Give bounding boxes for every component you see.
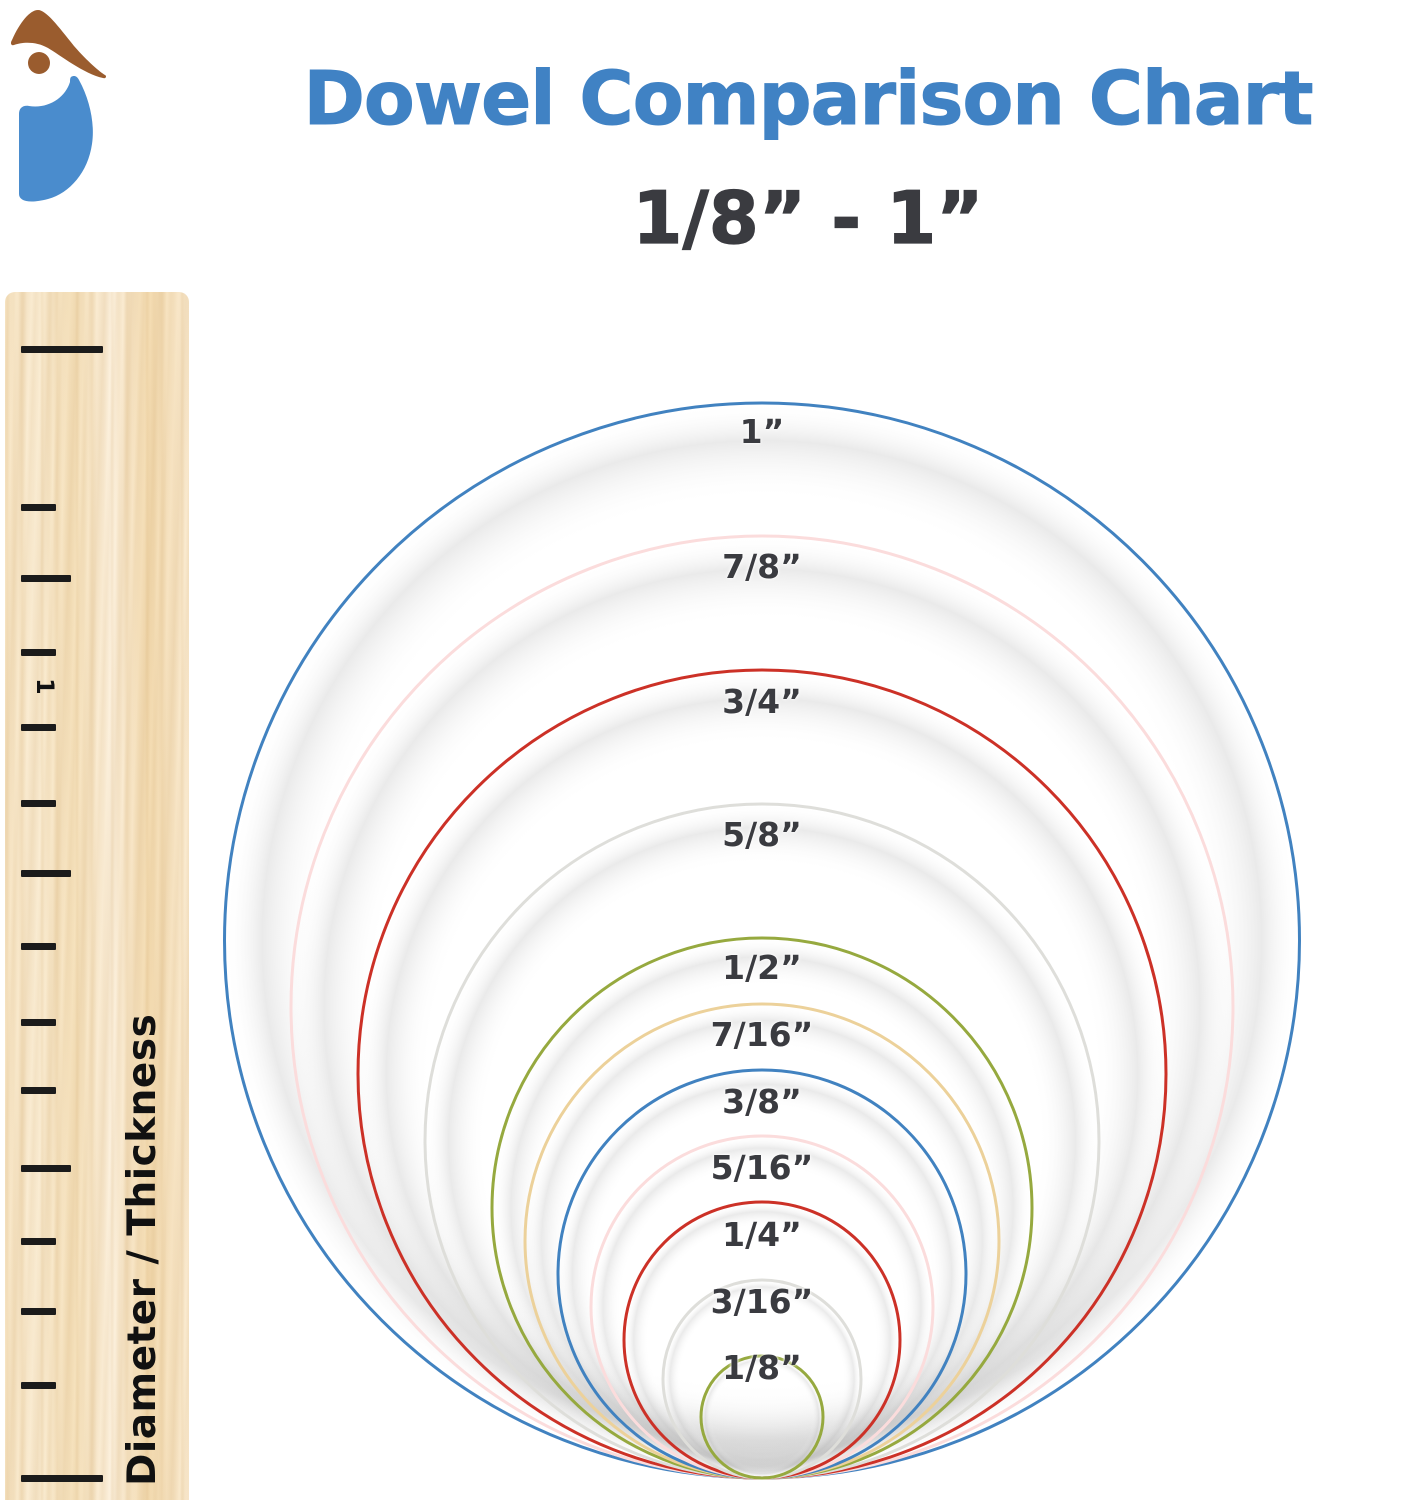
dowel-size-label: 1/2” (722, 948, 802, 987)
dowel-size-label: 1” (740, 412, 785, 451)
dowel-size-label: 3/8” (722, 1082, 802, 1121)
dowel-size-label: 1/4” (722, 1215, 802, 1254)
dowel-size-label: 7/16” (711, 1015, 814, 1054)
dowel-size-label: 7/8” (722, 547, 802, 586)
dowel-circles-svg (0, 0, 1426, 1500)
dowel-size-label: 5/8” (722, 815, 802, 854)
dowel-size-label: 1/8” (722, 1348, 802, 1387)
dowel-size-label: 5/16” (711, 1148, 814, 1187)
dowel-size-label: 3/16” (711, 1282, 814, 1321)
dowel-circle-chart: 1”7/8”3/4”5/8”1/2”7/16”3/8”5/16”1/4”3/16… (0, 0, 1426, 1500)
dowel-size-label: 3/4” (722, 682, 802, 721)
